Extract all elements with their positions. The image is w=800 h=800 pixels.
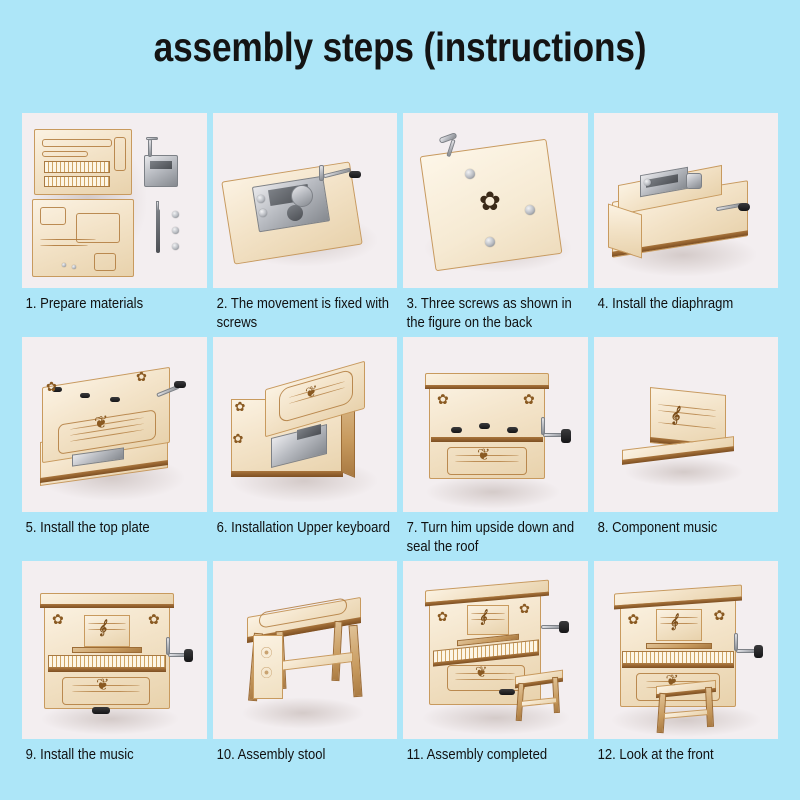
parts-layout-photo: [22, 113, 207, 288]
step-photo-8: 𝄞: [594, 337, 779, 512]
music-stand-photo: 𝄞: [594, 337, 779, 512]
step-caption-8: 8. Component music: [594, 512, 778, 561]
install-music-photo: ✿ ✿ 𝄞 ❦: [22, 561, 207, 739]
step-photo-5: ❦ ✿ ✿: [22, 337, 207, 512]
page-title: assembly steps (instructions): [56, 24, 744, 71]
movement-mounted-photo: [213, 113, 398, 288]
step-photo-12: ✿ ✿ 𝄞 ❦: [594, 561, 779, 739]
step-caption-2: 2. The movement is fixed with screws: [213, 288, 397, 337]
stool-photo: ⦿ ⦿: [213, 561, 398, 739]
step-caption-5: 5. Install the top plate: [22, 512, 206, 561]
front-view-photo: ✿ ✿ 𝄞 ❦: [594, 561, 779, 739]
step-photo-10: ⦿ ⦿: [213, 561, 398, 739]
diaphragm-photo: [594, 113, 779, 288]
step-caption-1: 1. Prepare materials: [22, 288, 206, 337]
step-caption-4: 4. Install the diaphragm: [594, 288, 778, 337]
step-photo-9: ✿ ✿ 𝄞 ❦: [22, 561, 207, 739]
step-photo-2: [213, 113, 398, 288]
step-photo-3: ✿: [403, 113, 588, 288]
top-plate-photo: ❦ ✿ ✿: [22, 337, 207, 512]
step-photo-1: [22, 113, 207, 288]
step-caption-6: 6. Installation Upper keyboard: [213, 512, 397, 561]
upper-keyboard-photo: ❦ ✿ ✿: [213, 337, 398, 512]
assembly-complete-photo: ✿ ✿ 𝄞 ❦: [403, 561, 588, 739]
step-photo-11: ✿ ✿ 𝄞 ❦: [403, 561, 588, 739]
step-photo-4: [594, 113, 779, 288]
back-plate-screws-photo: ✿: [403, 113, 588, 288]
seal-roof-photo: ✿ ✿ ❦: [403, 337, 588, 512]
step-caption-10: 10. Assembly stool: [213, 739, 397, 785]
step-caption-3: 3. Three screws as shown in the figure o…: [403, 288, 587, 337]
assembly-steps-grid: ✿ 1. Prepare materials 2. The movement i…: [22, 113, 778, 785]
step-photo-7: ✿ ✿ ❦: [403, 337, 588, 512]
step-caption-7: 7. Turn him upside down and seal the roo…: [403, 512, 587, 561]
step-caption-9: 9. Install the music: [22, 739, 206, 785]
step-photo-6: ❦ ✿ ✿: [213, 337, 398, 512]
step-caption-11: 11. Assembly completed: [403, 739, 587, 785]
step-caption-12: 12. Look at the front: [594, 739, 778, 785]
